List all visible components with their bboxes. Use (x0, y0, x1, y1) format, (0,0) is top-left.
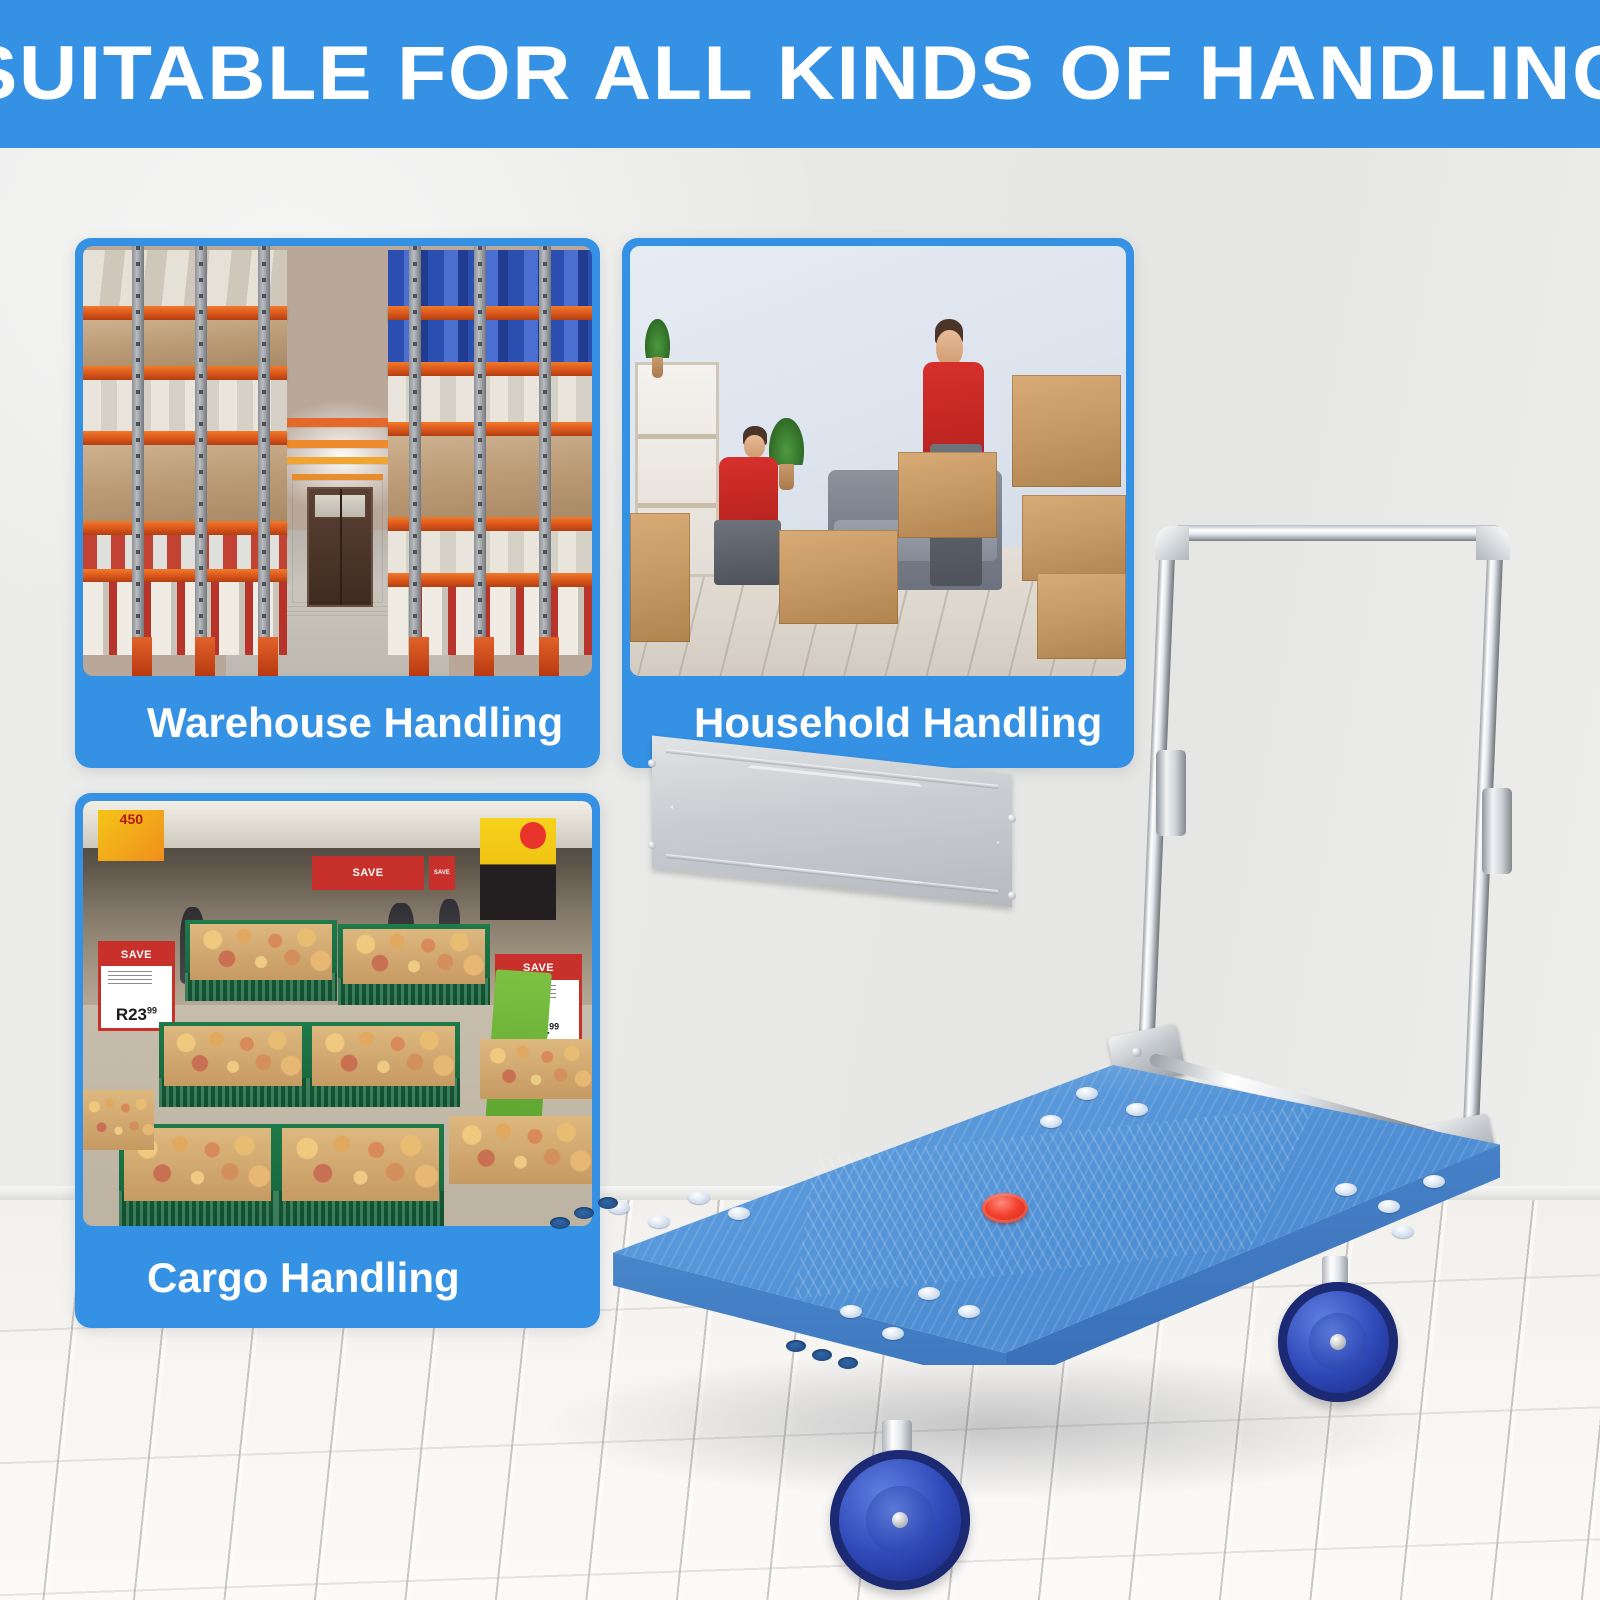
deck-drain-hole (838, 1357, 858, 1369)
caster-wheel-front-left (830, 1450, 970, 1590)
deck-rivet (1335, 1183, 1357, 1196)
deck-drain-hole (550, 1217, 570, 1229)
promo-450-sign: 450 (98, 810, 164, 861)
deck-rivet (1423, 1175, 1445, 1188)
deck-drain-hole (574, 1207, 594, 1219)
handle-brace-panel (652, 735, 1012, 907)
brace-collar-left (1156, 750, 1186, 836)
banner-title: SUITABLE FOR ALL KINDS OF HANDLING (0, 36, 1600, 112)
price-tag-left-value: R2399 (101, 1006, 171, 1023)
cargo-caption-label: Cargo Handling (147, 1254, 460, 1302)
handle-corner-right (1476, 526, 1510, 560)
deck-rivet (1378, 1200, 1400, 1213)
platform-hand-truck (500, 500, 1540, 1600)
price-tag-left-header: SAVE (101, 944, 171, 966)
deck-rivet (958, 1305, 980, 1318)
save-banner-sign: SAVE (312, 856, 424, 890)
deck-rivet (1126, 1103, 1148, 1116)
price-tag-left: SAVE R2399 (98, 941, 174, 1030)
brace-collar-right (1482, 788, 1512, 874)
deck-center-cap (982, 1193, 1028, 1223)
deck-drain-hole (812, 1349, 832, 1361)
deck-rivet (1076, 1087, 1098, 1100)
deck-drain-hole (598, 1197, 618, 1209)
handle-corner-left (1155, 526, 1189, 560)
save-small-sign: SAVE (429, 856, 454, 890)
deck-rivet (688, 1191, 710, 1204)
deck-drain-hole (786, 1340, 806, 1352)
header-banner: SUITABLE FOR ALL KINDS OF HANDLING (0, 0, 1600, 148)
deck-rivet (1392, 1225, 1414, 1238)
deck-rivet (728, 1207, 750, 1220)
deck-rivet (1040, 1115, 1062, 1128)
deck-rivet (840, 1305, 862, 1318)
handle-top-bar[interactable] (1172, 525, 1502, 541)
deck-rivet (918, 1287, 940, 1300)
deck-rivet (882, 1327, 904, 1340)
deck-rivet (648, 1215, 670, 1228)
caster-wheel-rear-right (1278, 1282, 1398, 1402)
